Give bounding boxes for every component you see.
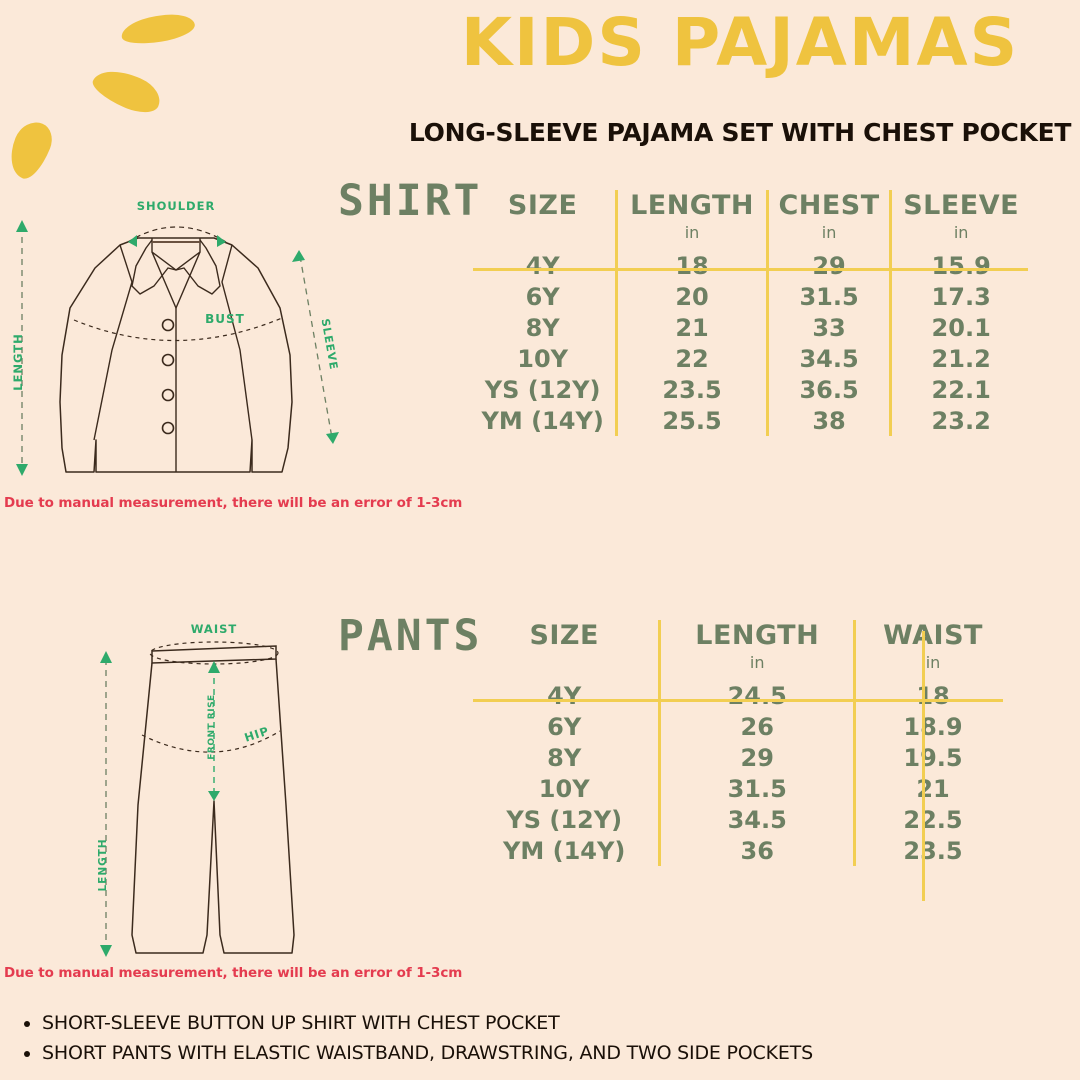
decorative-blob-icon bbox=[2, 116, 57, 183]
cell: 24.5 bbox=[660, 680, 855, 711]
cell: 4Y bbox=[470, 250, 617, 281]
table-row: 6Y 20 31.5 17.3 bbox=[470, 281, 1030, 312]
table-row: 8Y 21 33 20.1 bbox=[470, 312, 1030, 343]
table-row: 10Y 22 34.5 21.2 bbox=[470, 343, 1030, 374]
decorative-blob-icon bbox=[119, 10, 196, 47]
cell: 22.1 bbox=[891, 374, 1030, 405]
cell: 21.2 bbox=[891, 343, 1030, 374]
svg-text:HIP: HIP bbox=[243, 724, 271, 745]
cell: 23.5 bbox=[855, 835, 1010, 866]
cell: 36.5 bbox=[767, 374, 891, 405]
cell: 26 bbox=[660, 711, 855, 742]
cell: 34.5 bbox=[767, 343, 891, 374]
shirt-col-header: SLEEVE bbox=[891, 190, 1030, 223]
pants-measurement-note: Due to manual measurement, there will be… bbox=[4, 965, 462, 981]
cell: 31.5 bbox=[660, 773, 855, 804]
product-features-list: SHORT-SLEEVE BUTTON UP SHIRT WITH CHEST … bbox=[16, 1012, 1056, 1072]
svg-text:FRONT RISE: FRONT RISE bbox=[207, 694, 217, 759]
cell: 22 bbox=[617, 343, 767, 374]
table-row: 4Y 24.5 18 bbox=[470, 680, 1010, 711]
svg-text:SHOULDER: SHOULDER bbox=[137, 199, 216, 213]
table-row: 6Y 26 18.9 bbox=[470, 711, 1010, 742]
cell: 21 bbox=[617, 312, 767, 343]
shirt-diagram: SHOULDER BUST LENGTH SLEEVE bbox=[0, 190, 360, 490]
cell: 33 bbox=[767, 312, 891, 343]
cell: 22.5 bbox=[855, 804, 1010, 835]
cell: 38 bbox=[767, 405, 891, 436]
shirt-col-unit: in bbox=[891, 223, 1030, 250]
table-row: 10Y 31.5 21 bbox=[470, 773, 1010, 804]
table-row: 8Y 29 19.5 bbox=[470, 742, 1010, 773]
svg-text:BUST: BUST bbox=[205, 312, 245, 326]
cell: 23.2 bbox=[891, 405, 1030, 436]
cell: 10Y bbox=[470, 773, 660, 804]
cell: YM (14Y) bbox=[470, 405, 617, 436]
cell: 21 bbox=[855, 773, 1010, 804]
pants-diagram: WAIST HIP FRONT RISE LENGTH bbox=[80, 605, 380, 965]
cell: YS (12Y) bbox=[470, 804, 660, 835]
svg-text:WAIST: WAIST bbox=[191, 622, 237, 636]
cell: 19.5 bbox=[855, 742, 1010, 773]
pants-col-unit: in bbox=[660, 653, 855, 680]
svg-text:LENGTH: LENGTH bbox=[11, 333, 25, 391]
table-row: YS (12Y) 34.5 22.5 bbox=[470, 804, 1010, 835]
cell: 17.3 bbox=[891, 281, 1030, 312]
page-title: KIDS PAJAMAS bbox=[420, 8, 1060, 77]
page-subtitle: LONG-SLEEVE PAJAMA SET WITH CHEST POCKET bbox=[400, 118, 1080, 147]
size-chart-page: KIDS PAJAMAS LONG-SLEEVE PAJAMA SET WITH… bbox=[0, 0, 1080, 1080]
cell: 18.9 bbox=[855, 711, 1010, 742]
shirt-measurement-note: Due to manual measurement, there will be… bbox=[4, 495, 462, 511]
cell: 34.5 bbox=[660, 804, 855, 835]
shirt-col-unit bbox=[470, 223, 617, 250]
pants-col-unit bbox=[470, 653, 660, 680]
shirt-col-header: SIZE bbox=[470, 190, 617, 223]
cell: 18 bbox=[617, 250, 767, 281]
cell: 25.5 bbox=[617, 405, 767, 436]
pants-col-unit: in bbox=[855, 653, 1010, 680]
svg-text:SLEEVE: SLEEVE bbox=[319, 318, 341, 371]
table-row: YM (14Y) 36 23.5 bbox=[470, 835, 1010, 866]
table-row: 4Y 18 29 15.9 bbox=[470, 250, 1030, 281]
cell: 20.1 bbox=[891, 312, 1030, 343]
cell: 29 bbox=[660, 742, 855, 773]
cell: 31.5 bbox=[767, 281, 891, 312]
cell: 8Y bbox=[470, 312, 617, 343]
shirt-col-unit: in bbox=[617, 223, 767, 250]
cell: 23.5 bbox=[617, 374, 767, 405]
cell: 6Y bbox=[470, 711, 660, 742]
shirt-col-header: CHEST bbox=[767, 190, 891, 223]
svg-text:LENGTH: LENGTH bbox=[97, 838, 109, 891]
cell: 20 bbox=[617, 281, 767, 312]
pants-col-header: WAIST bbox=[855, 620, 1010, 653]
cell: 36 bbox=[660, 835, 855, 866]
table-row: YM (14Y) 25.5 38 23.2 bbox=[470, 405, 1030, 436]
shirt-size-table: SIZE LENGTH CHEST SLEEVE in in in 4Y 18 … bbox=[470, 190, 1030, 436]
list-item: SHORT-SLEEVE BUTTON UP SHIRT WITH CHEST … bbox=[42, 1012, 1056, 1036]
cell: 29 bbox=[767, 250, 891, 281]
table-row: YS (12Y) 23.5 36.5 22.1 bbox=[470, 374, 1030, 405]
decorative-blob-icon bbox=[88, 61, 165, 120]
cell: 18 bbox=[855, 680, 1010, 711]
cell: 8Y bbox=[470, 742, 660, 773]
cell: 6Y bbox=[470, 281, 617, 312]
pants-table-trailing-divider bbox=[922, 631, 925, 901]
pants-col-header: LENGTH bbox=[660, 620, 855, 653]
list-item: SHORT PANTS WITH ELASTIC WAISTBAND, DRAW… bbox=[42, 1042, 1056, 1066]
shirt-table-header-rule bbox=[473, 268, 1028, 271]
cell: YM (14Y) bbox=[470, 835, 660, 866]
cell: 15.9 bbox=[891, 250, 1030, 281]
shirt-col-unit: in bbox=[767, 223, 891, 250]
pants-size-table: SIZE LENGTH WAIST in in 4Y 24.5 18 6Y bbox=[470, 620, 1010, 866]
shirt-col-header: LENGTH bbox=[617, 190, 767, 223]
cell: YS (12Y) bbox=[470, 374, 617, 405]
pants-col-header: SIZE bbox=[470, 620, 660, 653]
cell: 10Y bbox=[470, 343, 617, 374]
cell: 4Y bbox=[470, 680, 660, 711]
